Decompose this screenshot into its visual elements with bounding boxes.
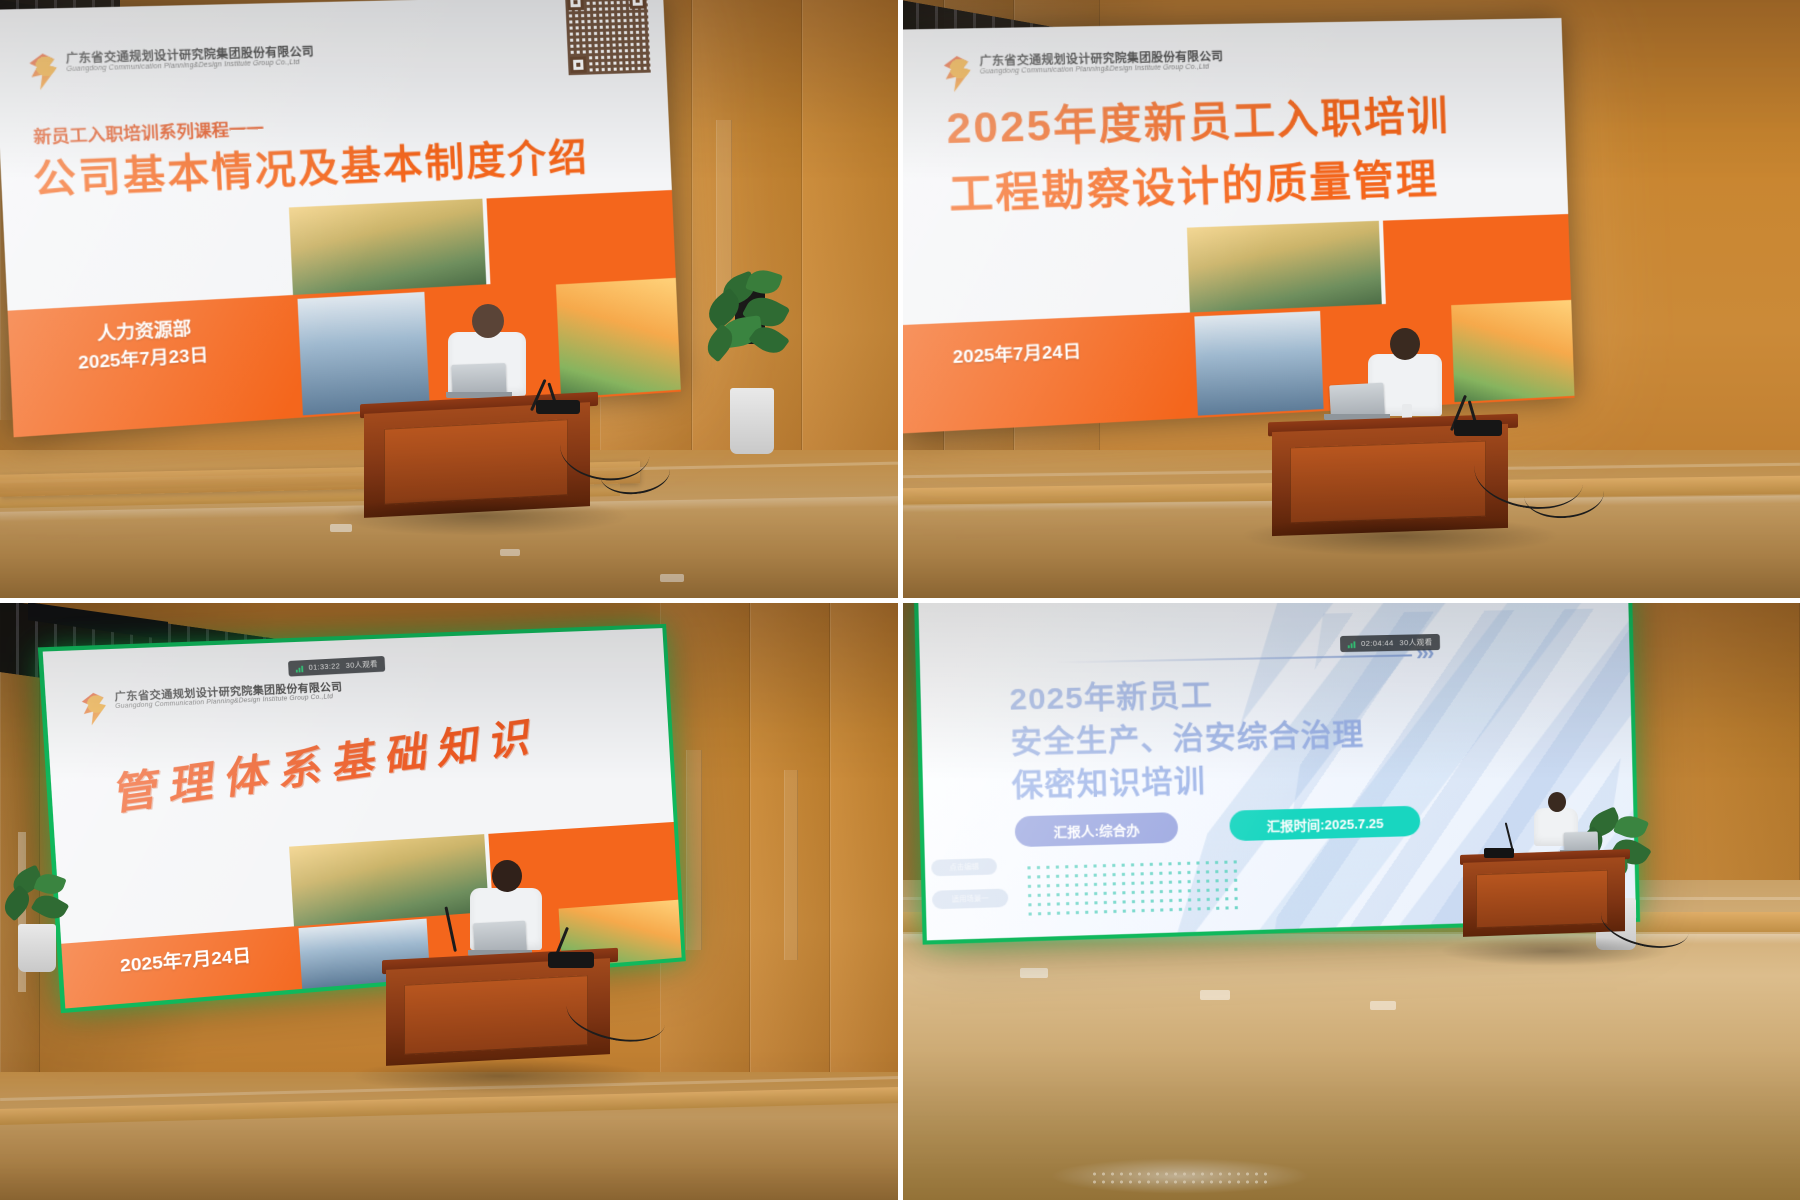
wall-trim (784, 770, 798, 960)
qr-eye (629, 0, 646, 9)
wall-panel (802, 0, 900, 470)
slide-title-line-1: 2025年新员工 (1009, 675, 1213, 722)
laptop-screen (473, 921, 526, 954)
live-viewers: 30人观看 (1399, 637, 1432, 648)
auditorium-room-3: 广东省交通规划设计研究院集团股份有限公司 Guangdong Communica… (0, 600, 900, 1200)
podium-shadow (1440, 936, 1670, 966)
panel-2-top-right: 广东省交通规划设计研究院集团股份有限公司 Guangdong Communica… (900, 0, 1800, 600)
laptop-screen (1329, 383, 1385, 418)
floor-marker (1020, 968, 1048, 978)
potted-plant-1 (700, 270, 790, 490)
wall-trim (686, 750, 702, 950)
potted-plant-3 (2, 870, 72, 1010)
podium-shadow (1240, 516, 1560, 556)
scene-hint-button[interactable]: 适用场景一 (932, 889, 1008, 910)
led-screen-2: 广东省交通规划设计研究院集团股份有限公司 Guangdong Communica… (900, 18, 1575, 433)
qr-eye (567, 0, 584, 10)
panel-3-bottom-left: 广东省交通规划设计研究院集团股份有限公司 Guangdong Communica… (0, 600, 900, 1200)
flame-logo-icon (25, 53, 61, 90)
floor-marker (1370, 1001, 1396, 1010)
photo-thumb (1451, 300, 1574, 402)
podium-4 (1460, 838, 1630, 948)
company-logo: 广东省交通规划设计研究院集团股份有限公司 Guangdong Communica… (25, 46, 315, 91)
dot-pattern (1024, 857, 1244, 921)
flame-logo-icon (940, 56, 975, 93)
company-logo: 广东省交通规划设计研究院集团股份有限公司 Guangdong Communica… (940, 51, 1225, 93)
live-viewers: 30人观看 (345, 659, 378, 671)
plant-pot (730, 388, 774, 454)
floor-marker (660, 574, 684, 582)
slide-title-line-3: 保密知识培训 (1011, 760, 1206, 807)
screen-surface: 广东省交通规划设计研究院集团股份有限公司 Guangdong Communica… (900, 18, 1575, 433)
podium-panel (404, 975, 588, 1055)
slide-2: 广东省交通规划设计研究院集团股份有限公司 Guangdong Communica… (900, 18, 1575, 433)
presenter-head (1390, 328, 1420, 360)
floor-grille (1090, 1170, 1270, 1186)
panel-4-bottom-right: ››› 2025年新员工 安全生产、治安综合治理 保密知识培训 汇报人:综合办 … (900, 600, 1800, 1200)
photo-thumb (1194, 311, 1323, 416)
floor-marker (1200, 990, 1230, 1000)
photo-thumb (1187, 221, 1382, 315)
podium-panel (1476, 870, 1608, 929)
qr-eye (570, 56, 587, 73)
slide-1: 广东省交通规划设计研究院集团股份有限公司 Guangdong Communica… (0, 0, 681, 437)
photo-thumb (1383, 214, 1571, 306)
slide-title-line-2: 安全生产、治安综合治理 (1010, 714, 1364, 764)
qr-code[interactable] (565, 0, 651, 75)
photo-thumb (289, 199, 486, 297)
collage-divider-vertical (898, 0, 903, 1200)
live-timer: 02:04:44 (1361, 639, 1394, 648)
device-box (1454, 420, 1502, 436)
auditorium-room-2: 广东省交通规划设计研究院集团股份有限公司 Guangdong Communica… (900, 0, 1800, 600)
auditorium-room-1: 广东省交通规划设计研究院集团股份有限公司 Guangdong Communica… (0, 0, 900, 600)
presenter-head (472, 304, 504, 338)
floor-marker (500, 549, 520, 556)
report-time-pill: 汇报时间:2025.7.25 (1229, 806, 1420, 842)
photo-collage-grid: 广东省交通规划设计研究院集团股份有限公司 Guangdong Communica… (0, 0, 1800, 1200)
podium-shadow (350, 1058, 650, 1094)
signal-bars-icon (296, 664, 304, 672)
laptop-screen (451, 363, 506, 395)
live-timer: 01:33:22 (308, 662, 340, 672)
edit-hint-button[interactable]: 点击编辑 (931, 858, 997, 876)
photo-thumb (487, 190, 676, 286)
screen-surface: 广东省交通规划设计研究院集团股份有限公司 Guangdong Communica… (0, 0, 681, 437)
flame-logo-icon (78, 692, 110, 726)
presenter-head (1548, 792, 1566, 812)
device-box (548, 952, 594, 968)
podium-panel (384, 419, 568, 505)
podium-panel (1290, 441, 1486, 524)
device-box (1484, 848, 1514, 858)
led-screen-1: 广东省交通规划设计研究院集团股份有限公司 Guangdong Communica… (0, 0, 681, 437)
signal-bars-icon (1348, 640, 1356, 648)
slide-title-line-2: 工程勘察设计的质量管理 (948, 146, 1440, 222)
presenter-head (492, 860, 522, 892)
slide-title-line-1: 2025年度新员工入职培训 (945, 83, 1450, 156)
live-status-badge-4: 02:04:44 30人观看 (1340, 634, 1440, 652)
company-logo: 广东省交通规划设计研究院集团股份有限公司 Guangdong Communica… (78, 682, 344, 726)
panel-1-top-left: 广东省交通规划设计研究院集团股份有限公司 Guangdong Communica… (0, 0, 900, 600)
plant-pot (18, 924, 56, 972)
presenter-pill: 汇报人:综合办 (1015, 812, 1179, 847)
device-box (536, 400, 580, 414)
podium-shadow (330, 496, 630, 536)
auditorium-room-4: ››› 2025年新员工 安全生产、治安综合治理 保密知识培训 汇报人:综合办 … (900, 600, 1800, 1200)
